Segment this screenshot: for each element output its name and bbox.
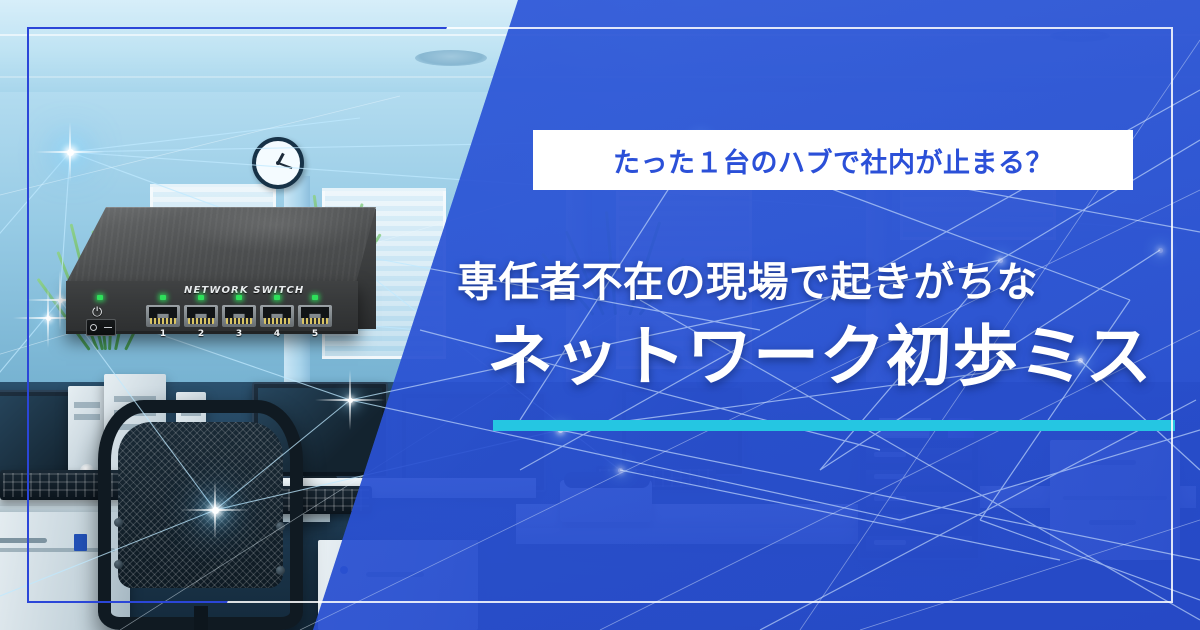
- port-led-icon: [236, 295, 242, 300]
- headline-line-1: 専任者不在の現場で起きがちな: [457, 248, 1181, 308]
- headline-line-2: ネットワーク初歩ミス: [487, 324, 1187, 390]
- catchphrase-text: たった１台のハブで社内が止まる？: [613, 141, 1053, 180]
- banner-image: NETWORK SWITCH ⏻ 1 2 3: [0, 0, 1200, 630]
- catchphrase-badge: たった１台のハブで社内が止まる？: [533, 130, 1133, 190]
- rj45-jack-icon: [260, 305, 294, 327]
- network-node: [348, 398, 353, 403]
- network-node: [618, 468, 623, 473]
- port-led-icon: [198, 295, 204, 300]
- network-switch-device: NETWORK SWITCH ⏻ 1 2 3: [66, 207, 376, 337]
- port-number-label: 2: [198, 329, 204, 339]
- ethernet-port[interactable]: 5: [298, 305, 332, 327]
- port-number-label: 5: [312, 329, 318, 339]
- port-number-label: 1: [160, 329, 166, 339]
- rj45-jack-icon: [146, 305, 180, 327]
- port-number-label: 4: [274, 329, 280, 339]
- rj45-jack-icon: [298, 305, 332, 327]
- network-node: [46, 316, 51, 321]
- ethernet-port[interactable]: 4: [260, 305, 294, 327]
- port-led-icon: [160, 295, 166, 300]
- network-node: [58, 298, 63, 303]
- port-led-icon: [274, 295, 280, 300]
- rj45-jack-icon: [222, 305, 256, 327]
- device-top-panel: [66, 207, 376, 283]
- rj45-jack-icon: [184, 305, 218, 327]
- rocker-off-mark: [104, 327, 112, 329]
- accent-underline: [493, 420, 1175, 431]
- network-node: [67, 149, 74, 156]
- ethernet-port[interactable]: 2: [184, 305, 218, 327]
- ethernet-port[interactable]: 1: [146, 305, 180, 327]
- power-symbol-icon: ⏻: [92, 306, 102, 319]
- power-rocker-switch[interactable]: [86, 319, 116, 336]
- rocker-on-mark: [90, 324, 97, 331]
- power-led-icon: [97, 295, 103, 300]
- port-number-label: 3: [236, 329, 242, 339]
- ethernet-port[interactable]: 3: [222, 305, 256, 327]
- network-node: [212, 507, 219, 514]
- port-led-icon: [312, 295, 318, 300]
- ethernet-port-group: 1 2 3 4 5: [146, 305, 332, 327]
